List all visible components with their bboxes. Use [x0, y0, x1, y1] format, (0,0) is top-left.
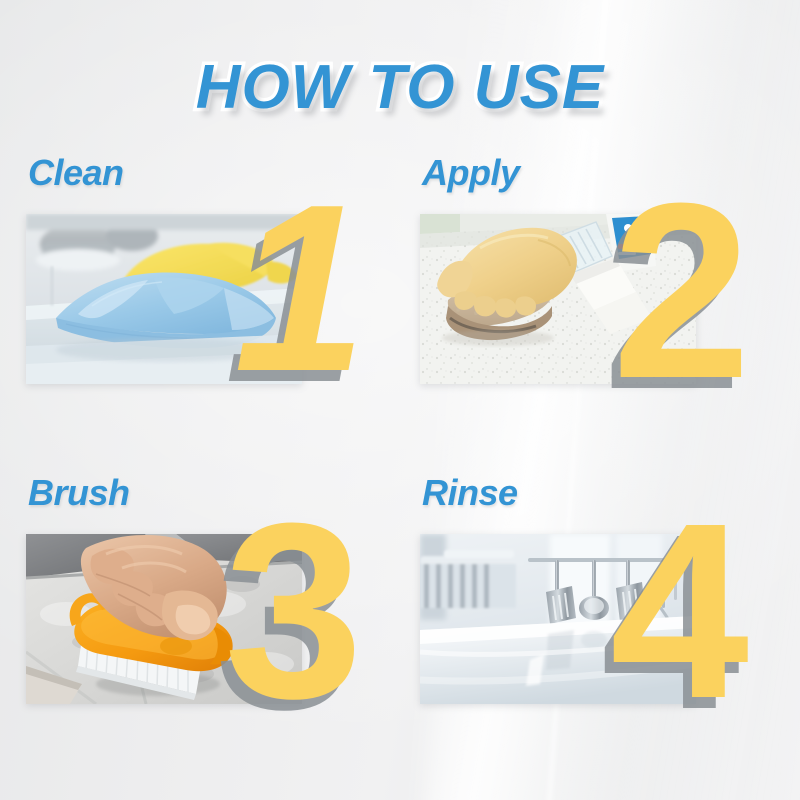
step-label-clean: Clean — [28, 152, 124, 194]
step-number-4: 4 — [610, 486, 749, 736]
step-label-rinse: Rinse — [422, 472, 518, 514]
step-number-2: 2 — [612, 166, 751, 416]
step-card-1: Clean — [6, 152, 391, 482]
step-label-apply: Apply — [422, 152, 520, 194]
infographic-how-to-use: HOW TO USE Clean — [0, 0, 800, 800]
step-number-1: 1 — [234, 170, 366, 408]
step-card-3: Brush — [6, 472, 391, 800]
step-label-brush: Brush — [28, 472, 130, 514]
step-number-3: 3 — [224, 486, 363, 736]
step-card-2: Apply — [400, 152, 785, 482]
page-title: HOW TO USE — [0, 52, 800, 123]
step-card-4: Rinse — [400, 472, 785, 800]
